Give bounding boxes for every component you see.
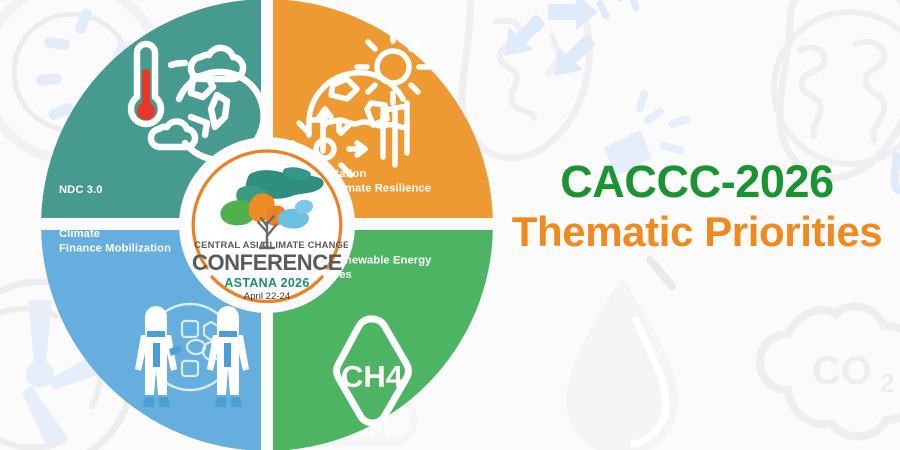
svg-text:2: 2	[880, 368, 894, 398]
logo-tagline-right: CLIMATE CHANGE	[263, 239, 349, 250]
ch4-label: CH4	[341, 359, 404, 394]
infographic-canvas: CO 2 CO 2	[0, 0, 900, 450]
headline-block: CACCC-2026 Thematic Priorities	[498, 158, 896, 254]
svg-text:CO: CO	[812, 349, 872, 393]
page-subtitle: Thematic Priorities	[498, 210, 896, 255]
water-drop-icon	[566, 260, 678, 450]
conference-logo: CENTRAL ASIA CLIMATE CHANGE CONFERENCE A…	[186, 144, 348, 306]
page-title: CACCC-2026	[498, 158, 896, 206]
logo-tagline-left: CENTRAL ASIA	[194, 239, 266, 250]
logo-city-year: ASTANA 2026	[224, 276, 309, 290]
quadrant-label-ndc: NDC 3.0	[59, 184, 103, 196]
logo-dates: April 22-24	[244, 291, 291, 302]
logo-main-word: CONFERENCE	[192, 250, 342, 275]
co2-cloud-icon: CO 2	[760, 306, 900, 436]
